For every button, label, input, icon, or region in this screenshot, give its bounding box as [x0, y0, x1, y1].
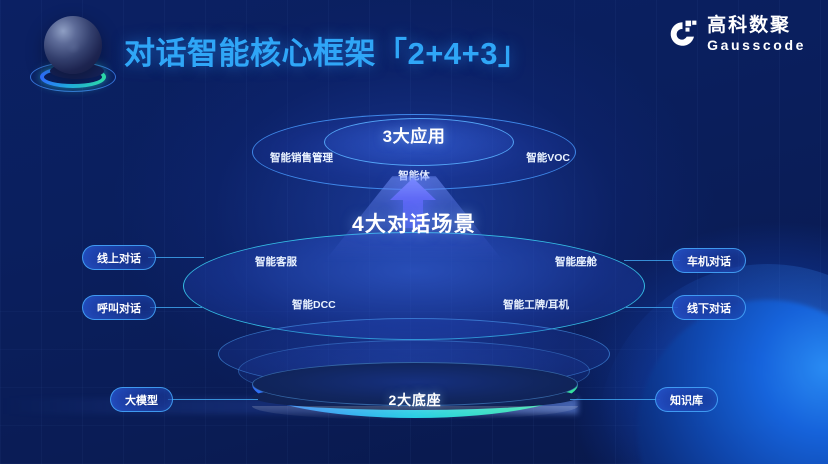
top-layer-title: 3大应用: [252, 122, 576, 147]
label-smart-voc: 智能VOC: [526, 150, 570, 165]
sphere-orb-icon: [26, 14, 120, 98]
brand-logo: 高科数聚 Gausscode: [664, 16, 806, 52]
brand-name-cn: 高科数聚: [707, 16, 806, 35]
connector-call: [150, 307, 202, 308]
label-smart-sales-management: 智能销售管理: [270, 150, 333, 165]
orb-ball-icon: [44, 16, 102, 74]
bottom-layer-base: 2大底座: [252, 362, 578, 428]
pill-offline-dialogue[interactable]: 线下对话: [672, 295, 746, 320]
pill-large-model[interactable]: 大模型: [110, 387, 173, 412]
label-smart-badge-headset: 智能工牌/耳机: [503, 297, 569, 312]
slide-canvas: 对话智能核心框架「2+4+3」 高科数聚 Gausscode 3大应用 智能销售…: [0, 0, 828, 464]
bottom-layer-title: 2大底座: [252, 390, 578, 410]
pill-call-dialogue[interactable]: 呼叫对话: [82, 295, 156, 320]
connector-model: [168, 399, 258, 400]
connector-knowledge-base: [570, 399, 660, 400]
pill-knowledge-base[interactable]: 知识库: [655, 387, 718, 412]
connector-online: [148, 257, 204, 258]
connector-offline: [626, 307, 678, 308]
pill-online-dialogue[interactable]: 线上对话: [82, 245, 156, 270]
page-title: 对话智能核心框架「2+4+3」: [124, 28, 529, 73]
brand-name-en: Gausscode: [707, 38, 806, 52]
slide-header: 对话智能核心框架「2+4+3」 高科数聚 Gausscode: [0, 0, 828, 104]
middle-layer-title: 4大对话场景: [0, 208, 828, 238]
brand-text: 高科数聚 Gausscode: [707, 16, 806, 52]
gausscode-c-mark-icon: [664, 17, 698, 51]
pill-car-dialogue[interactable]: 车机对话: [672, 248, 746, 273]
label-smart-cockpit: 智能座舱: [555, 254, 597, 269]
label-smart-customer-service: 智能客服: [255, 254, 297, 269]
label-smart-dcc: 智能DCC: [292, 297, 336, 312]
